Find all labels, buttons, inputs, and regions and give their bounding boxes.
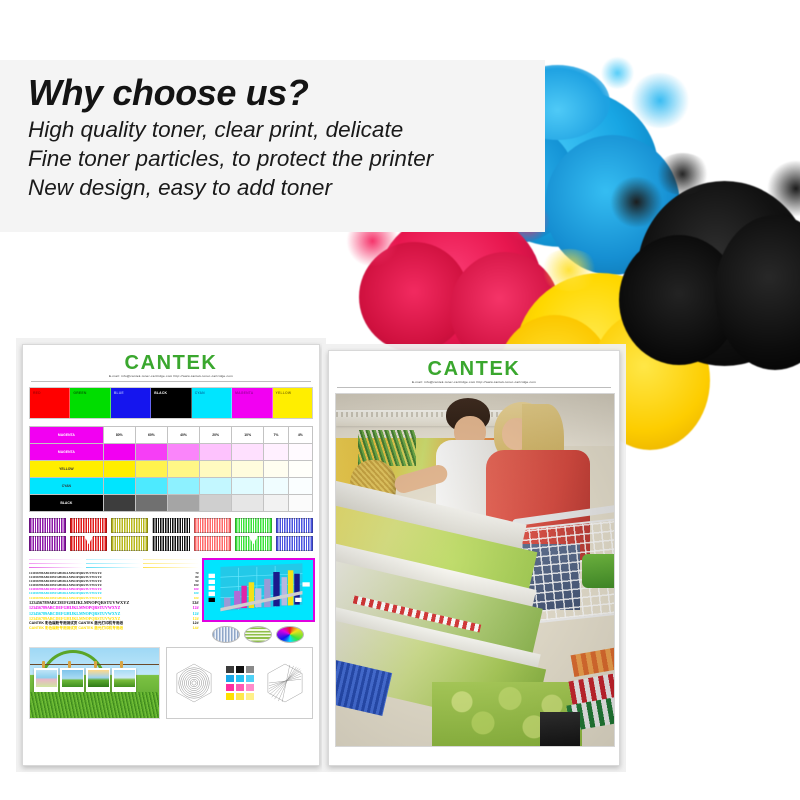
3d-bar-chart xyxy=(202,558,315,622)
faint-tint-line xyxy=(29,562,199,565)
tint-header-80%: 80% xyxy=(103,427,135,444)
color-bar-red: RED xyxy=(30,388,70,418)
tint-cell xyxy=(288,495,312,512)
swatch-cell xyxy=(226,693,234,700)
cjk-line-text: CANTEK 彩色碳粉专用测试页 CANTEK 激光打印机专用纸 xyxy=(29,626,123,631)
printed-samples-group: CANTEK E-mail: info@cantek-toner-cartrid… xyxy=(0,330,800,780)
color-bar-label: GREEN xyxy=(73,391,86,395)
swatch-cell xyxy=(226,666,234,673)
headline-line-2: Fine toner particles, to protect the pri… xyxy=(28,144,545,173)
tint-header-40%: 40% xyxy=(167,427,199,444)
tint-header-60%: 60% xyxy=(135,427,167,444)
stripe-block-purple xyxy=(29,518,66,533)
tint-corner-cell: MAGENTA xyxy=(30,427,104,444)
swatch-cell xyxy=(236,684,244,691)
faint-tint-line xyxy=(29,566,199,569)
swatch-cell xyxy=(226,675,234,682)
color-wheel-oval xyxy=(276,626,304,643)
tint-header-7%: 7% xyxy=(264,427,288,444)
tint-cell xyxy=(103,495,135,512)
color-bar-yellow: YELLOW xyxy=(273,388,312,418)
stripe-block-olive xyxy=(111,536,148,551)
tint-cell xyxy=(167,444,199,461)
color-bar-label: BLACK xyxy=(154,391,167,395)
tint-cell xyxy=(200,478,232,495)
tint-row-label-cyan: CYAN xyxy=(30,478,104,495)
stripe-row-bottom xyxy=(29,536,313,551)
tint-row: YELLOW xyxy=(30,461,313,478)
brand-logo-left: CANTEK xyxy=(29,353,313,373)
swatch-cell xyxy=(236,675,244,682)
headline-line-3: New design, easy to add toner xyxy=(28,173,545,202)
stripe-block-salmon xyxy=(194,536,231,551)
tint-cell xyxy=(232,444,264,461)
stripe-block-olive xyxy=(111,518,148,533)
clothes-peg xyxy=(68,661,71,668)
tint-header-10%: 10% xyxy=(232,427,264,444)
tint-header-20%: 20% xyxy=(200,427,232,444)
tint-cell xyxy=(135,444,167,461)
tint-cell xyxy=(264,444,288,461)
clothes-peg xyxy=(120,661,123,668)
stripe-block-red xyxy=(70,536,107,551)
swatch-cell xyxy=(246,666,254,673)
color-bar-label: CYAN xyxy=(195,391,205,395)
color-bar-label: MAGENTA xyxy=(235,391,253,395)
hex-spiral-target xyxy=(175,663,213,703)
color-bar-row: REDGREENBLUEBLACKCYANMAGENTAYELLOW xyxy=(29,387,313,419)
clothes-peg xyxy=(42,661,45,668)
faint-tint-line xyxy=(29,558,199,561)
page-title: Why choose us? xyxy=(28,74,545,113)
cmyk-swatch-grid xyxy=(226,666,254,700)
tint-cell xyxy=(264,478,288,495)
tint-cell xyxy=(264,495,288,512)
tint-row: MAGENTA xyxy=(30,444,313,461)
cjk-test-line: CANTEK 彩色碳粉专用测试页 CANTEK 激光打印机专用纸14# xyxy=(29,626,199,631)
tint-row-label-black: BLACK xyxy=(30,495,104,512)
tint-cell xyxy=(288,478,312,495)
tint-cell xyxy=(232,495,264,512)
resolution-test-panel xyxy=(166,647,313,719)
text-test-column: 123456789ABCDEFGHIJKLMNOPQRSTUVWXYZ7#123… xyxy=(29,558,199,643)
chart-column xyxy=(204,558,313,643)
color-bar-label: RED xyxy=(33,391,41,395)
brand-logo-right: CANTEK xyxy=(335,359,613,379)
headline-panel: Why choose us? High quality toner, clear… xyxy=(0,60,545,232)
cjk-test-lines: CANTEK 彩色碳粉专用测试页 CANTEK 激光打印机专用纸12#CANTE… xyxy=(29,621,199,631)
stripe-block-purple xyxy=(29,536,66,551)
tint-cell xyxy=(167,495,199,512)
stripe-block-green xyxy=(235,536,272,551)
tint-cell xyxy=(103,444,135,461)
color-bar-label: YELLOW xyxy=(276,391,292,395)
swatch-cell xyxy=(236,666,244,673)
tint-cell xyxy=(200,444,232,461)
text-and-chart-row: 123456789ABCDEFGHIJKLMNOPQRSTUVWXYZ7#123… xyxy=(29,558,313,643)
stripe-block-blue xyxy=(276,536,313,551)
alphanumeric-test-lines: 123456789ABCDEFGHIJKLMNOPQRSTUVWXYZ7#123… xyxy=(29,571,199,621)
hanging-photos-over-grass xyxy=(29,647,160,719)
tint-cell xyxy=(135,461,167,478)
oval-pattern-group xyxy=(204,626,313,643)
header-divider-left xyxy=(31,381,311,382)
stripe-block-red xyxy=(70,518,107,533)
stripe-block-green xyxy=(235,518,272,533)
stripe-block-blue xyxy=(276,518,313,533)
swatch-cell xyxy=(246,675,254,682)
test-print-page-right: CANTEK E-mail: info@cantek-toner-cartrid… xyxy=(328,350,620,766)
contact-line-right: E-mail: info@cantek-toner-cartridge.com … xyxy=(335,380,613,384)
color-bar-label: BLUE xyxy=(114,391,124,395)
stripe-block-black xyxy=(152,536,189,551)
green-stripe-oval xyxy=(244,626,272,643)
tint-row: CYAN xyxy=(30,478,313,495)
swatch-cell xyxy=(236,693,244,700)
swatch-cell xyxy=(226,684,234,691)
color-bar-black: BLACK xyxy=(151,388,191,418)
tint-cell xyxy=(200,495,232,512)
tint-cell xyxy=(167,461,199,478)
tint-cell xyxy=(200,461,232,478)
swatch-cell xyxy=(246,684,254,691)
header-divider-right xyxy=(337,387,611,388)
tint-header-4%: 4% xyxy=(288,427,312,444)
color-bar-cyan: CYAN xyxy=(192,388,232,418)
tint-cell xyxy=(288,444,312,461)
clothes-peg xyxy=(94,661,97,668)
stripe-block-salmon xyxy=(194,518,231,533)
stripe-pattern-group xyxy=(29,518,313,551)
hex-line-target xyxy=(266,663,304,703)
tint-cell xyxy=(135,478,167,495)
test-print-page-left: CANTEK E-mail: info@cantek-toner-cartrid… xyxy=(22,344,320,766)
color-bar-blue: BLUE xyxy=(111,388,151,418)
tint-cell xyxy=(103,461,135,478)
tint-cell xyxy=(264,461,288,478)
supermarket-produce-couple-photo xyxy=(335,393,615,747)
tint-cell xyxy=(232,461,264,478)
stripe-block-black xyxy=(152,518,189,533)
tint-ramp-table: MAGENTA80%60%40%20%10%7%4%MAGENTAYELLOWC… xyxy=(29,426,313,512)
tint-cell xyxy=(135,495,167,512)
color-bar-green: GREEN xyxy=(70,388,110,418)
cjk-line-size: 14# xyxy=(193,626,199,631)
blue-stripe-oval xyxy=(212,626,240,643)
tint-cell xyxy=(167,478,199,495)
3d-bar-chart-svg xyxy=(204,560,313,620)
tint-row: BLACK xyxy=(30,495,313,512)
swatch-cell xyxy=(246,693,254,700)
tint-row-label-yellow: YELLOW xyxy=(30,461,104,478)
tint-cell xyxy=(232,478,264,495)
banner-stage: Why choose us? High quality toner, clear… xyxy=(0,0,800,800)
tint-cell xyxy=(103,478,135,495)
color-bar-magenta: MAGENTA xyxy=(232,388,272,418)
tint-row-label-magenta: MAGENTA xyxy=(30,444,104,461)
bottom-sample-row xyxy=(29,647,313,719)
headline-line-1: High quality toner, clear print, delicat… xyxy=(28,115,545,144)
tint-header-row: MAGENTA80%60%40%20%10%7%4% xyxy=(30,427,313,444)
tint-cell xyxy=(288,461,312,478)
contact-line-left: E-mail: info@cantek-toner-cartridge.com … xyxy=(29,374,313,378)
stripe-row-top xyxy=(29,518,313,533)
